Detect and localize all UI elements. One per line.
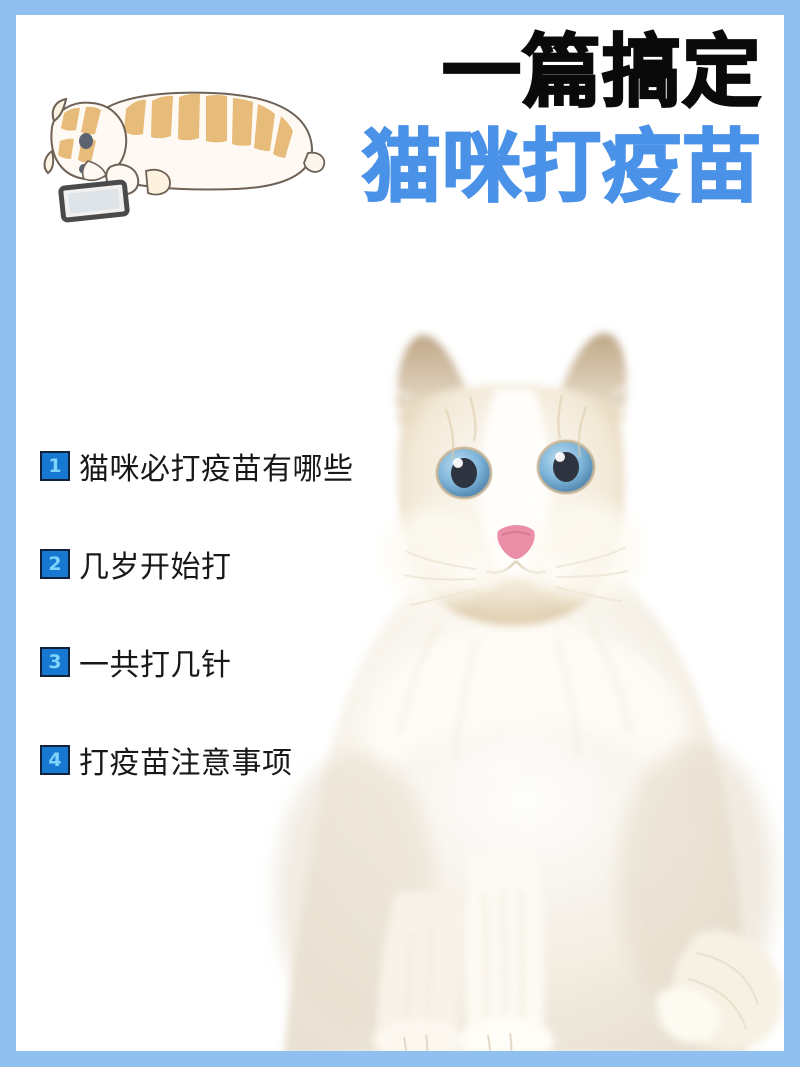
poster-canvas: 一篇搞定 猫咪打疫苗 (16, 15, 784, 1051)
item-label: 一共打几针 (79, 640, 232, 684)
item-number-badge: 2 (40, 549, 70, 579)
item-label: 猫咪必打疫苗有哪些 (79, 444, 354, 488)
headline-sub: 猫咪打疫苗 (362, 128, 762, 207)
item-number-badge: 4 (40, 745, 70, 775)
item-label: 几岁开始打 (79, 542, 232, 586)
item-number-badge: 3 (40, 647, 70, 677)
list-item[interactable]: 2 几岁开始打 (40, 545, 410, 583)
poster-header: 一篇搞定 猫咪打疫苗 (16, 15, 784, 310)
item-number-badge: 1 (40, 451, 70, 481)
contents-list: 1 猫咪必打疫苗有哪些 2 几岁开始打 3 一共打几针 4 打疫苗注意事项 (40, 447, 410, 779)
list-item[interactable]: 1 猫咪必打疫苗有哪些 (40, 447, 410, 485)
headline-main: 一篇搞定 (362, 33, 762, 112)
list-item[interactable]: 4 打疫苗注意事项 (40, 741, 410, 779)
list-item[interactable]: 3 一共打几针 (40, 643, 410, 681)
orange-tabby-kitten-with-phone-icon (30, 75, 330, 225)
headline-block: 一篇搞定 猫咪打疫苗 (362, 33, 762, 207)
poster-frame: 一篇搞定 猫咪打疫苗 (0, 0, 800, 1067)
item-label: 打疫苗注意事项 (79, 738, 293, 782)
